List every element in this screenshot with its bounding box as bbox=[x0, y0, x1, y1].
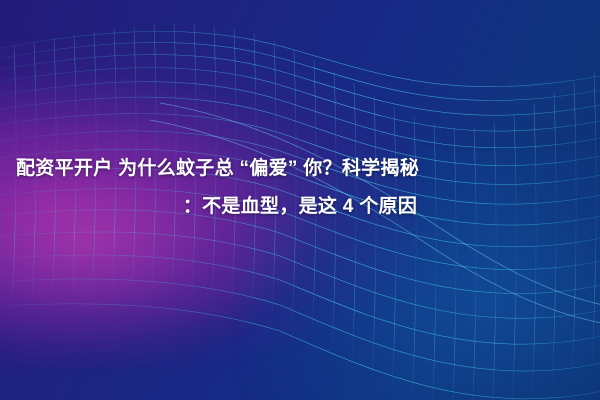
banner-image: 配资平开户 为什么蚊子总 “偏爱” 你？科学揭秘 ：不是血型，是这 4 个原因 bbox=[0, 0, 600, 400]
headline-line-2: ：不是血型，是这 4 个原因 bbox=[8, 188, 592, 226]
headline-line-1: 配资平开户 为什么蚊子总 “偏爱” 你？科学揭秘 bbox=[8, 150, 592, 188]
headline-text: 配资平开户 为什么蚊子总 “偏爱” 你？科学揭秘 ：不是血型，是这 4 个原因 bbox=[0, 150, 600, 226]
